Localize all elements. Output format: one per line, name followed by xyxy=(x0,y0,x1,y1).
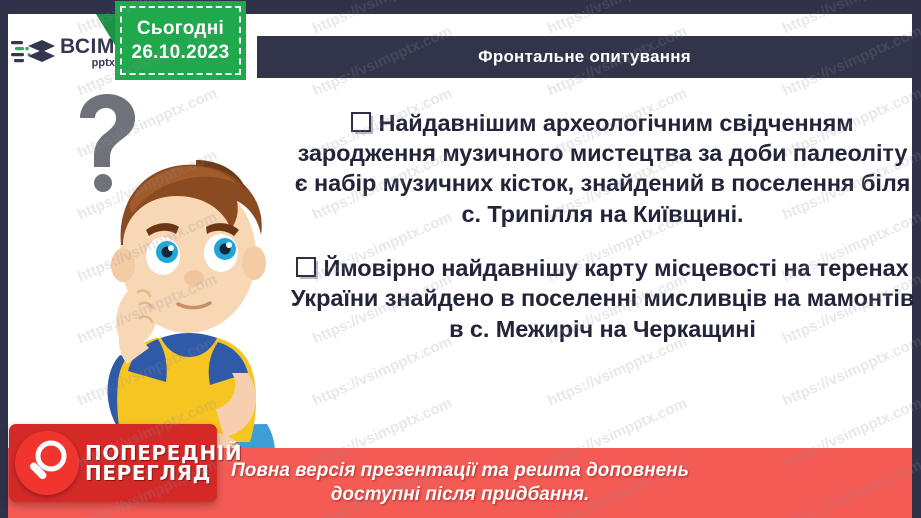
banner-line-2: доступні після придбання. xyxy=(231,483,689,507)
date-badge-value: 26.10.2023 xyxy=(131,41,229,65)
question-mark-icon xyxy=(80,94,135,192)
section-header-bar: Фронтальне опитування xyxy=(257,36,912,78)
preview-badge-line-2: ПЕРЕГЛЯД xyxy=(85,463,242,483)
bullet-item: Найдавнішим археологічним свідченням зар… xyxy=(290,108,915,230)
bullet-item: Ймовірно найдавнішу карту місцевості на … xyxy=(290,253,915,344)
checkbox-square-icon xyxy=(351,112,371,132)
logo-subtitle: pptx xyxy=(60,58,115,69)
page-title: Фронтальне опитування xyxy=(478,47,691,67)
preview-badge[interactable]: ПОПЕРЕДНІЙ ПЕРЕГЛЯД xyxy=(9,424,217,502)
date-badge: Сьогодні 26.10.2023 xyxy=(115,1,246,80)
banner-line-1: Повна версія презентації та решта доповн… xyxy=(231,459,689,483)
checkbox-square-icon xyxy=(296,257,316,277)
magnifier-icon xyxy=(15,431,79,495)
logo-title: ВСІМ xyxy=(60,36,115,57)
preview-badge-line-1: ПОПЕРЕДНІЙ xyxy=(85,443,242,463)
brand-logo: ВСІМ pptx xyxy=(10,28,125,76)
graduation-cap-icon xyxy=(10,34,56,70)
date-badge-label: Сьогодні xyxy=(137,17,224,41)
bullet-text: Ймовірно найдавнішу карту місцевості на … xyxy=(291,255,914,342)
bullet-text: Найдавнішим археологічним свідченням зар… xyxy=(295,110,911,227)
slide-root: ВСІМ pptx Сьогодні 26.10.2023 Фронтальне… xyxy=(0,0,921,518)
content-body: Найдавнішим археологічним свідченням зар… xyxy=(290,84,915,358)
